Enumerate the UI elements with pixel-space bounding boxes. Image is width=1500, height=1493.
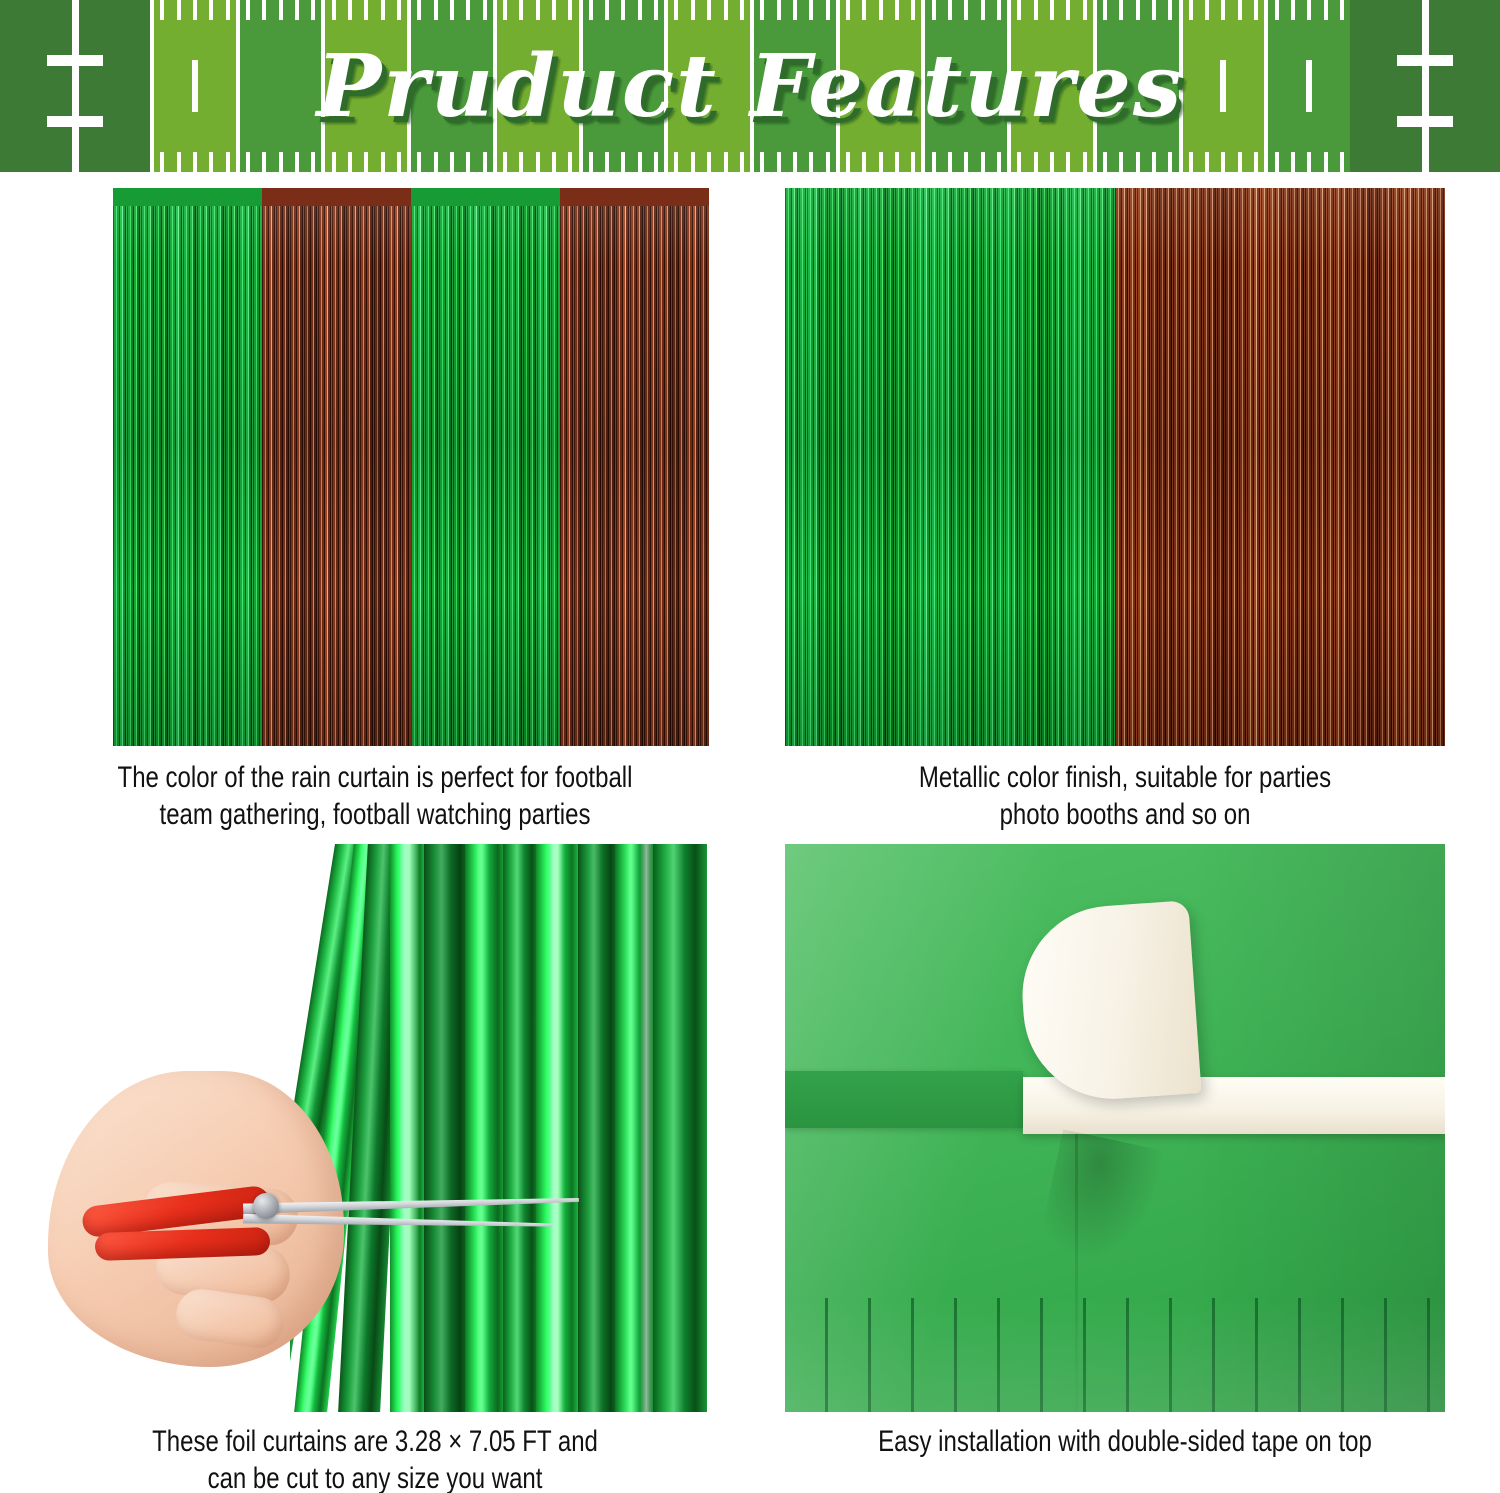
- panel-header-band: [113, 188, 262, 206]
- curtain-panel-brown: [262, 188, 411, 746]
- panel-header-band: [411, 188, 560, 206]
- caption-line: photo booths and so on: [825, 797, 1425, 834]
- scissor-scene: [35, 844, 707, 1412]
- curtain-panel-green: [113, 188, 262, 746]
- football-field-banner: Pruduct Features: [0, 0, 1500, 172]
- foil-vertical-shade: [560, 188, 709, 746]
- tape-scene: [785, 844, 1445, 1412]
- feature-caption-color: The color of the rain curtain is perfect…: [75, 760, 675, 833]
- caption-line: These foil curtains are 3.28 × 7.05 FT a…: [75, 1424, 675, 1461]
- caption-line: Easy installation with double-sided tape…: [825, 1424, 1425, 1461]
- curtain-panel-set: [113, 188, 709, 746]
- feature-caption-metallic: Metallic color finish, suitable for part…: [825, 760, 1425, 833]
- foil-fringe-sheen: [785, 1298, 1445, 1412]
- foil-vertical-shade: [1115, 188, 1445, 746]
- panel-header-band: [262, 188, 411, 206]
- foil-vertical-shade: [785, 188, 1115, 746]
- features-grid: The color of the rain curtain is perfect…: [0, 172, 1500, 1493]
- caption-line: team gathering, football watching partie…: [75, 797, 675, 834]
- curtain-panel-set: [785, 188, 1445, 746]
- curtain-panel-brown: [1115, 188, 1445, 746]
- product-features-infographic: Pruduct Features: [0, 0, 1500, 1493]
- curtain-panel-green: [785, 188, 1115, 746]
- caption-line: The color of the rain curtain is perfect…: [75, 760, 675, 797]
- double-sided-tape-on-green-foil-photo: [785, 844, 1445, 1412]
- page-title: Pruduct Features: [0, 0, 1500, 172]
- feature-caption-size: These foil curtains are 3.28 × 7.05 FT a…: [75, 1424, 675, 1493]
- tape-covered-strip: [785, 1071, 1023, 1128]
- curtain-panel-green: [411, 188, 560, 746]
- feature-caption-installation: Easy installation with double-sided tape…: [825, 1424, 1425, 1461]
- foil-vertical-shade: [113, 188, 262, 746]
- foil-vertical-shade: [411, 188, 560, 746]
- panel-header-band: [560, 188, 709, 206]
- green-foil-fringe: [290, 844, 707, 1412]
- tape-peel-liner: [1023, 906, 1195, 1099]
- foil-vertical-shade: [262, 188, 411, 746]
- foil-curtain-four-panels-photo: [113, 188, 709, 746]
- caption-line: Metallic color finish, suitable for part…: [825, 760, 1425, 797]
- curtain-panel-brown: [560, 188, 709, 746]
- scissors-cutting-foil-curtain-photo: [35, 844, 707, 1412]
- caption-line: can be cut to any size you want: [75, 1461, 675, 1493]
- tape-peel-shape: [1016, 901, 1201, 1106]
- foil-curtain-closeup-two-panels-photo: [785, 188, 1445, 746]
